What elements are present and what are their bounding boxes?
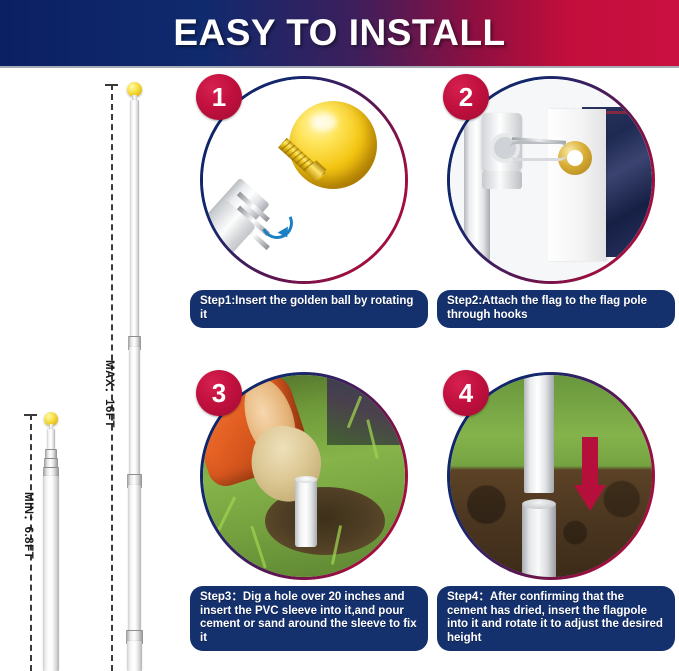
step-2-photo-circle: 2 <box>447 76 655 284</box>
step-4-caption: Step4：After confirming that the cement h… <box>437 586 675 651</box>
snap-hook-icon <box>510 141 566 161</box>
step-number-badge-2: 2 <box>443 74 489 120</box>
infographic-page: EASY TO INSTALL MAX：16FT MIN：6.8FT <box>0 0 679 671</box>
pvc-sleeve-top <box>295 476 317 483</box>
step-cell-4: 4 Step4：After confirming that t <box>433 368 679 664</box>
pole-segment-2 <box>129 347 140 476</box>
pole-segment-1 <box>47 429 55 451</box>
flagpole-being-inserted <box>524 375 554 493</box>
page-title: EASY TO INSTALL <box>173 12 505 54</box>
pole-segment-3 <box>128 485 141 632</box>
pole-segment-4 <box>127 641 142 671</box>
down-arrow-icon <box>582 437 598 489</box>
pole-segment-1 <box>130 100 139 338</box>
step-1-photo-circle: 1 <box>200 76 408 284</box>
pole-segment-2 <box>43 476 59 671</box>
down-arrow-head-icon <box>574 485 606 511</box>
flagpole-illustrations: MAX：16FT MIN：6.8FT <box>0 68 186 671</box>
ground-sleeve-opening <box>522 499 556 509</box>
steps-grid: 1 <box>186 72 679 671</box>
grass-blade <box>217 496 236 531</box>
flag-clip-bracket-lower <box>482 171 522 189</box>
grass-blade <box>250 526 266 569</box>
ball-highlight <box>311 113 337 131</box>
step-cell-1: 1 <box>186 72 432 368</box>
step-cell-3: 3 <box>186 368 432 664</box>
step-number-badge-4: 4 <box>443 370 489 416</box>
step-number-badge-1: 1 <box>196 74 242 120</box>
flag-header-sleeve <box>548 109 606 261</box>
shaded-grass <box>327 375 405 445</box>
pvc-sleeve <box>295 479 317 547</box>
step-2-caption: Step2:Attach the flag to the flag pole t… <box>437 290 675 328</box>
step-4-photo-circle: 4 <box>447 372 655 580</box>
max-dimension-label: MAX：16FT <box>102 360 118 428</box>
step-cell-2: 2 <box>433 72 679 368</box>
step-1-caption: Step1:Insert the golden ball by rotating… <box>190 290 428 328</box>
header-banner: EASY TO INSTALL <box>0 0 679 66</box>
step-number-badge-3: 3 <box>196 370 242 416</box>
step-3-photo-circle: 3 <box>200 372 408 580</box>
grommet-hole <box>567 150 583 166</box>
min-dimension-label: MIN：6.8FT <box>21 492 37 559</box>
step-3-caption: Step3：Dig a hole over 20 inches and inse… <box>190 586 428 651</box>
golden-ball-icon <box>289 101 377 189</box>
ground-sleeve <box>522 503 556 577</box>
